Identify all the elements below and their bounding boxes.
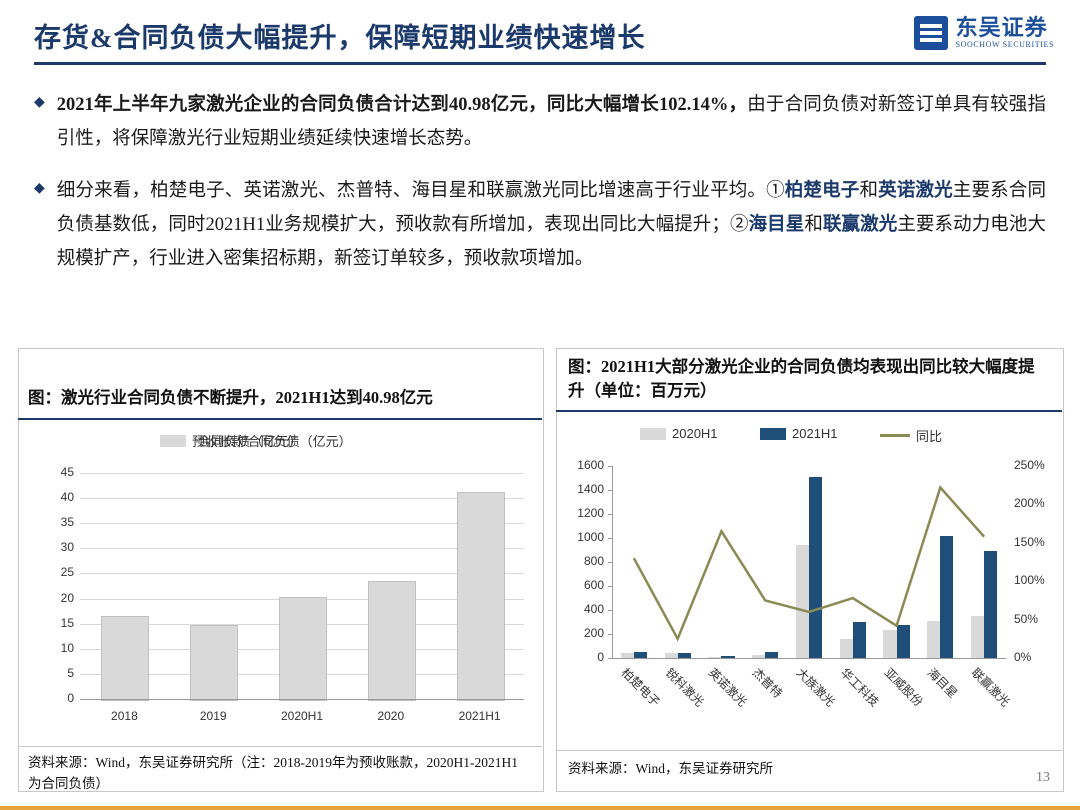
bullet-item-1: ◆ 2021年上半年九家激光企业的合同负债合计达到40.98亿元，同比大幅增长1… <box>34 88 1046 156</box>
bullet-list: ◆ 2021年上半年九家激光企业的合同负债合计达到40.98亿元，同比大幅增长1… <box>34 88 1046 294</box>
right-caption-rule <box>556 410 1062 412</box>
right-source-rule <box>556 750 1062 751</box>
y-axis-tick-label: 45 <box>44 465 74 479</box>
y-axis-tick-label: 30 <box>44 540 74 554</box>
brand-name-cn: 东吴证券 <box>956 17 1054 39</box>
y-axis-line <box>612 466 613 658</box>
title-underline <box>34 62 1046 65</box>
bullet-2-seg-4: 英诺激光 <box>878 181 953 201</box>
page-title-text: 存货&合同负债大幅提升，保障短期业绩快速增长 <box>34 16 646 55</box>
bar <box>368 581 416 701</box>
bullet-1-seg-1: 2021年上半年九家激光企业的合同负债合计达到40.98亿元，同比大幅增长102… <box>57 95 747 115</box>
gridline <box>80 473 524 474</box>
footer-accent-bar <box>0 806 1080 810</box>
y-axis-tick-label: 5 <box>44 666 74 680</box>
bullet-2-seg-6: 海目星 <box>749 215 805 235</box>
right-source-note: 资料来源：Wind，东吴证券研究所 <box>568 758 1028 779</box>
bullet-2-seg-1: 细分来看，柏楚电子、英诺激光、杰普特、海目星和联赢激光同比增速高于行业平均。① <box>57 181 785 201</box>
bullet-2-seg-3: 和 <box>859 181 878 201</box>
bullet-2-seg-7: 和 <box>804 215 823 235</box>
y-axis-tick-label: 35 <box>44 515 74 529</box>
left-chart: 预收账款/合同负债（亿元）合同负债（亿元）0510152025303540452… <box>18 425 542 745</box>
y-axis-tick-label: 15 <box>44 616 74 630</box>
diamond-bullet-icon: ◆ <box>34 88 45 118</box>
left-source-note: 资料来源：Wind，东吴证券研究所（注：2018-2019年为预收账款，2020… <box>28 752 528 794</box>
left-caption-rule <box>18 418 542 420</box>
bullet-2-seg-8: 联赢激光 <box>823 215 897 235</box>
page-number: 13 <box>1036 770 1050 786</box>
left-source-rule <box>18 746 542 747</box>
x-axis-tick-label: 2019 <box>169 709 258 723</box>
legend-swatch-icon <box>160 435 186 447</box>
yoy-line-series <box>556 420 1062 750</box>
y-axis-tick-label: 25 <box>44 565 74 579</box>
x-axis-line <box>80 699 524 700</box>
y-axis-tick-label: 0 <box>44 691 74 705</box>
x-axis-tick-label: 2020 <box>346 709 435 723</box>
bullet-text-2: 细分来看，柏楚电子、英诺激光、杰普特、海目星和联赢激光同比增速高于行业平均。①柏… <box>57 174 1046 276</box>
y-axis-tick-label: 40 <box>44 490 74 504</box>
y-axis-tick-label: 20 <box>44 591 74 605</box>
bullet-text-1: 2021年上半年九家激光企业的合同负债合计达到40.98亿元，同比大幅增长102… <box>57 88 1046 156</box>
x-axis-tick-label: 2018 <box>80 709 169 723</box>
slide-header: 存货&合同负债大幅提升，保障短期业绩快速增长 东吴证券 SOOCHOW SECU… <box>0 0 1080 68</box>
bar <box>101 616 149 701</box>
x-axis-tick-label: 2021H1 <box>435 709 524 723</box>
bullet-2-seg-2: 柏楚电子 <box>785 181 860 201</box>
left-chart-caption: 图：激光行业合同负债不断提升，2021H1达到40.98亿元 <box>28 386 528 410</box>
x-axis-tick-label: 2020H1 <box>258 709 347 723</box>
bar <box>190 625 238 701</box>
soochow-logo-icon <box>914 16 948 50</box>
diamond-bullet-icon: ◆ <box>34 174 45 204</box>
right-chart-caption: 图：2021H1大部分激光企业的合同负债均表现出同比较大幅度提升（单位：百万元） <box>568 355 1048 403</box>
x-axis-line <box>612 658 1006 659</box>
legend-label-2: 合同负债（亿元） <box>198 431 302 450</box>
right-chart: 2020H12021H1同比02004006008001000120014001… <box>556 420 1062 750</box>
bar <box>457 492 505 701</box>
bullet-item-2: ◆ 细分来看，柏楚电子、英诺激光、杰普特、海目星和联赢激光同比增速高于行业平均。… <box>34 174 1046 276</box>
y-axis-tick-label: 10 <box>44 641 74 655</box>
brand-name-en: SOOCHOW SECURITIES <box>956 39 1054 50</box>
page-title: 存货&合同负债大幅提升，保障短期业绩快速增长 <box>34 14 854 56</box>
brand-text: 东吴证券 SOOCHOW SECURITIES <box>956 17 1054 50</box>
bar <box>279 597 327 701</box>
brand-logo: 东吴证券 SOOCHOW SECURITIES <box>914 16 1054 50</box>
